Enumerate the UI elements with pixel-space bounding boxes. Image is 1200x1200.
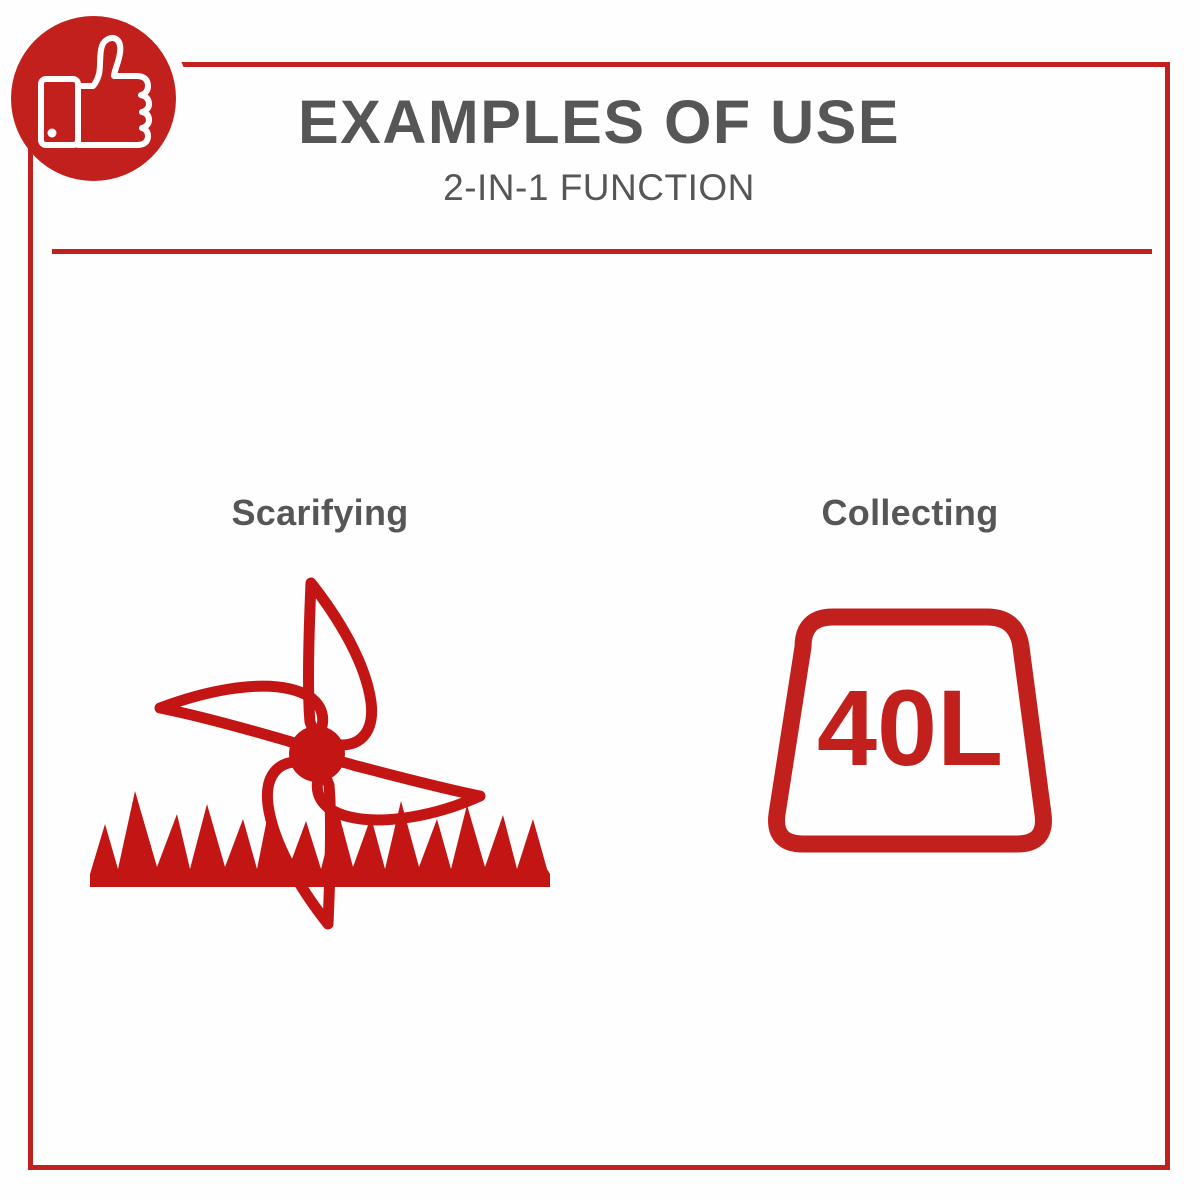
panel-scarifying: Scarifying <box>85 495 555 939</box>
panel-scarifying-art <box>85 569 555 939</box>
panel-collecting: Collecting 40L <box>675 495 1145 939</box>
scarifier-blade-over-grass-icon <box>85 569 555 939</box>
panel-collecting-label: Collecting <box>675 495 1145 531</box>
basket-volume-value: 40L <box>817 667 1003 788</box>
header-block: EXAMPLES OF USE 2-IN-1 FUNCTION <box>28 92 1170 206</box>
panel-collecting-art: 40L <box>675 569 1145 939</box>
grass-collection-box-icon: 40L <box>675 569 1145 939</box>
rotor-hub-dot <box>289 726 345 782</box>
panel-scarifying-label: Scarifying <box>85 495 555 531</box>
thumbs-up-badge <box>11 16 176 181</box>
thumbs-up-icon <box>11 16 176 181</box>
infographic-card: EXAMPLES OF USE 2-IN-1 FUNCTION Scarifyi… <box>0 0 1200 1200</box>
page-subtitle: 2-IN-1 FUNCTION <box>28 169 1170 206</box>
header-divider <box>52 249 1152 254</box>
page-title: EXAMPLES OF USE <box>28 92 1170 153</box>
